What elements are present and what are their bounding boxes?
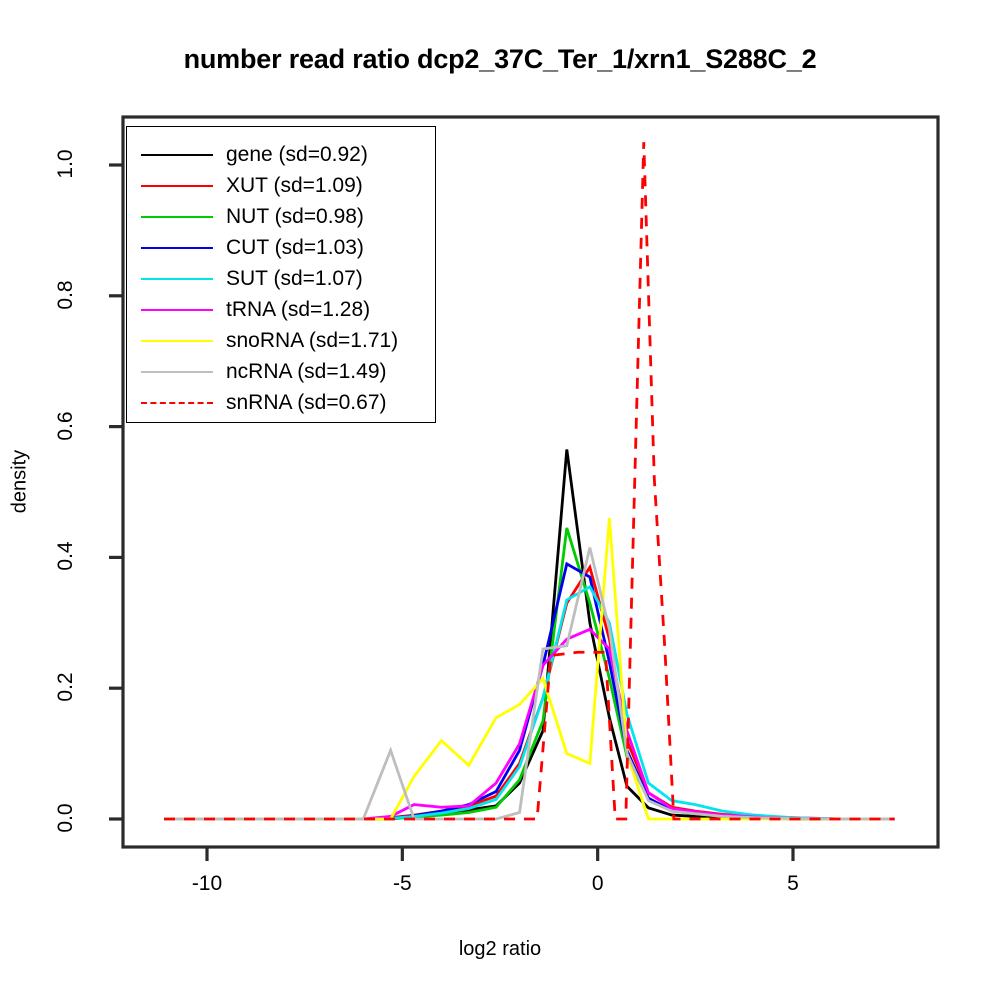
legend-item-ncRNA: ncRNA (sd=1.49) <box>127 356 435 387</box>
legend-item-tRNA: tRNA (sd=1.28) <box>127 294 435 325</box>
legend-item-label: gene (sd=0.92) <box>226 143 368 167</box>
y-tick-label: 0.8 <box>54 265 78 325</box>
x-tick-label: 5 <box>763 872 823 896</box>
legend-item-gene: gene (sd=0.92) <box>127 139 435 170</box>
legend-item-CUT: CUT (sd=1.03) <box>127 232 435 263</box>
legend: gene (sd=0.92)XUT (sd=1.09)NUT (sd=0.98)… <box>126 126 436 423</box>
y-axis-title: density <box>9 402 32 562</box>
y-tick-label: 0.2 <box>54 657 78 717</box>
legend-line-icon <box>141 240 213 256</box>
x-tick-label: 0 <box>568 872 628 896</box>
legend-line-icon <box>141 147 213 163</box>
legend-item-snRNA: snRNA (sd=0.67) <box>127 387 435 418</box>
legend-line-icon <box>141 302 213 318</box>
legend-line-icon <box>141 364 213 380</box>
y-tick-label: 1.0 <box>54 134 78 194</box>
legend-line-icon <box>141 333 213 349</box>
legend-item-XUT: XUT (sd=1.09) <box>127 170 435 201</box>
y-tick-label: 0.6 <box>54 396 78 456</box>
legend-line-icon <box>141 395 213 411</box>
legend-line-icon <box>141 271 213 287</box>
chart-page: number read ratio dcp2_37C_Ter_1/xrn1_S2… <box>0 0 1000 1000</box>
legend-item-label: snoRNA (sd=1.71) <box>226 329 398 353</box>
series-line-tRNA <box>164 629 895 819</box>
legend-line-icon <box>141 178 213 194</box>
series-line-SUT <box>164 587 895 819</box>
legend-line-icon <box>141 209 213 225</box>
series-line-ncRNA <box>164 548 895 819</box>
legend-item-label: CUT (sd=1.03) <box>226 236 364 260</box>
series-line-CUT <box>164 564 895 819</box>
legend-item-label: SUT (sd=1.07) <box>226 267 363 291</box>
series-line-snoRNA <box>164 518 895 819</box>
series-line-gene <box>164 449 895 819</box>
legend-item-label: tRNA (sd=1.28) <box>226 298 370 322</box>
legend-item-SUT: SUT (sd=1.07) <box>127 263 435 294</box>
legend-item-label: XUT (sd=1.09) <box>226 174 363 198</box>
x-tick-label: -10 <box>177 872 237 896</box>
x-axis-title: log2 ratio <box>0 938 1000 961</box>
y-tick-label: 0.4 <box>54 526 78 586</box>
x-tick-label: -5 <box>372 872 432 896</box>
legend-item-snoRNA: snoRNA (sd=1.71) <box>127 325 435 356</box>
series-line-NUT <box>164 528 895 819</box>
legend-item-label: snRNA (sd=0.67) <box>226 391 387 415</box>
y-tick-label: 0.0 <box>54 788 78 848</box>
legend-item-NUT: NUT (sd=0.98) <box>127 201 435 232</box>
legend-item-label: NUT (sd=0.98) <box>226 205 364 229</box>
legend-item-label: ncRNA (sd=1.49) <box>226 360 387 384</box>
